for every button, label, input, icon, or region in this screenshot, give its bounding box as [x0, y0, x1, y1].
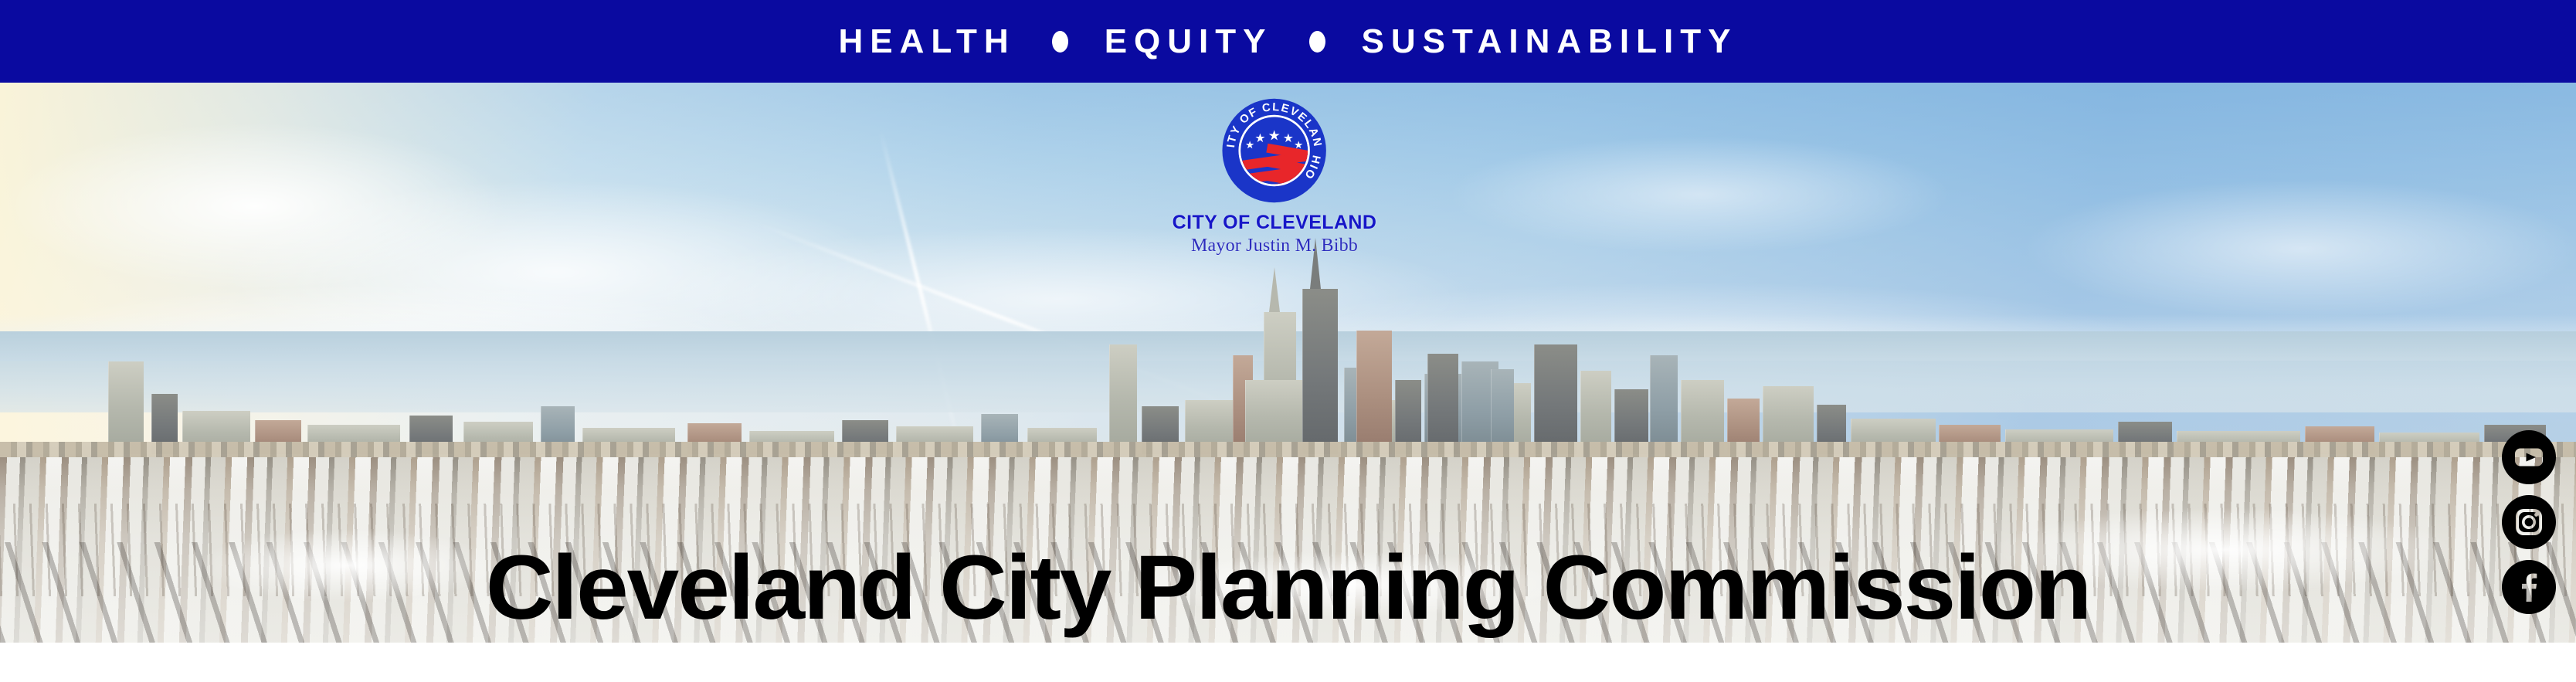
- tagline-inner: HEALTH EQUITY SUSTAINABILITY: [839, 25, 1738, 59]
- city-branding-block: CITY OF CLEVELAND OHIO CITY OF CLEVELAND…: [1173, 97, 1377, 256]
- page-title: Cleveland City Planning Commission: [0, 542, 2576, 633]
- youtube-icon[interactable]: [2502, 430, 2556, 484]
- tagline-dot-separator-1: [1052, 31, 1068, 53]
- hero-photo: CITY OF CLEVELAND OHIO CITY OF CLEVELAND…: [0, 83, 2576, 643]
- facebook-link[interactable]: [2502, 560, 2556, 614]
- city-name-label: CITY OF CLEVELAND: [1173, 212, 1377, 232]
- bottom-white-pad: [0, 643, 2576, 682]
- tagline-bar: HEALTH EQUITY SUSTAINABILITY: [0, 0, 2576, 83]
- instagram-icon[interactable]: [2502, 495, 2556, 549]
- tagline-dot-separator-2: [1309, 31, 1325, 53]
- tagline-word-equity: EQUITY: [1105, 25, 1273, 59]
- mayor-name-label: Mayor Justin M. Bibb: [1173, 236, 1377, 256]
- social-links: [2502, 430, 2556, 614]
- city-of-cleveland-seal-icon: CITY OF CLEVELAND OHIO: [1220, 97, 1329, 205]
- instagram-link[interactable]: [2502, 495, 2556, 549]
- tagline-word-health: HEALTH: [839, 25, 1016, 59]
- tagline-word-sustainability: SUSTAINABILITY: [1362, 25, 1738, 59]
- youtube-link[interactable]: [2502, 430, 2556, 484]
- facebook-icon[interactable]: [2502, 560, 2556, 614]
